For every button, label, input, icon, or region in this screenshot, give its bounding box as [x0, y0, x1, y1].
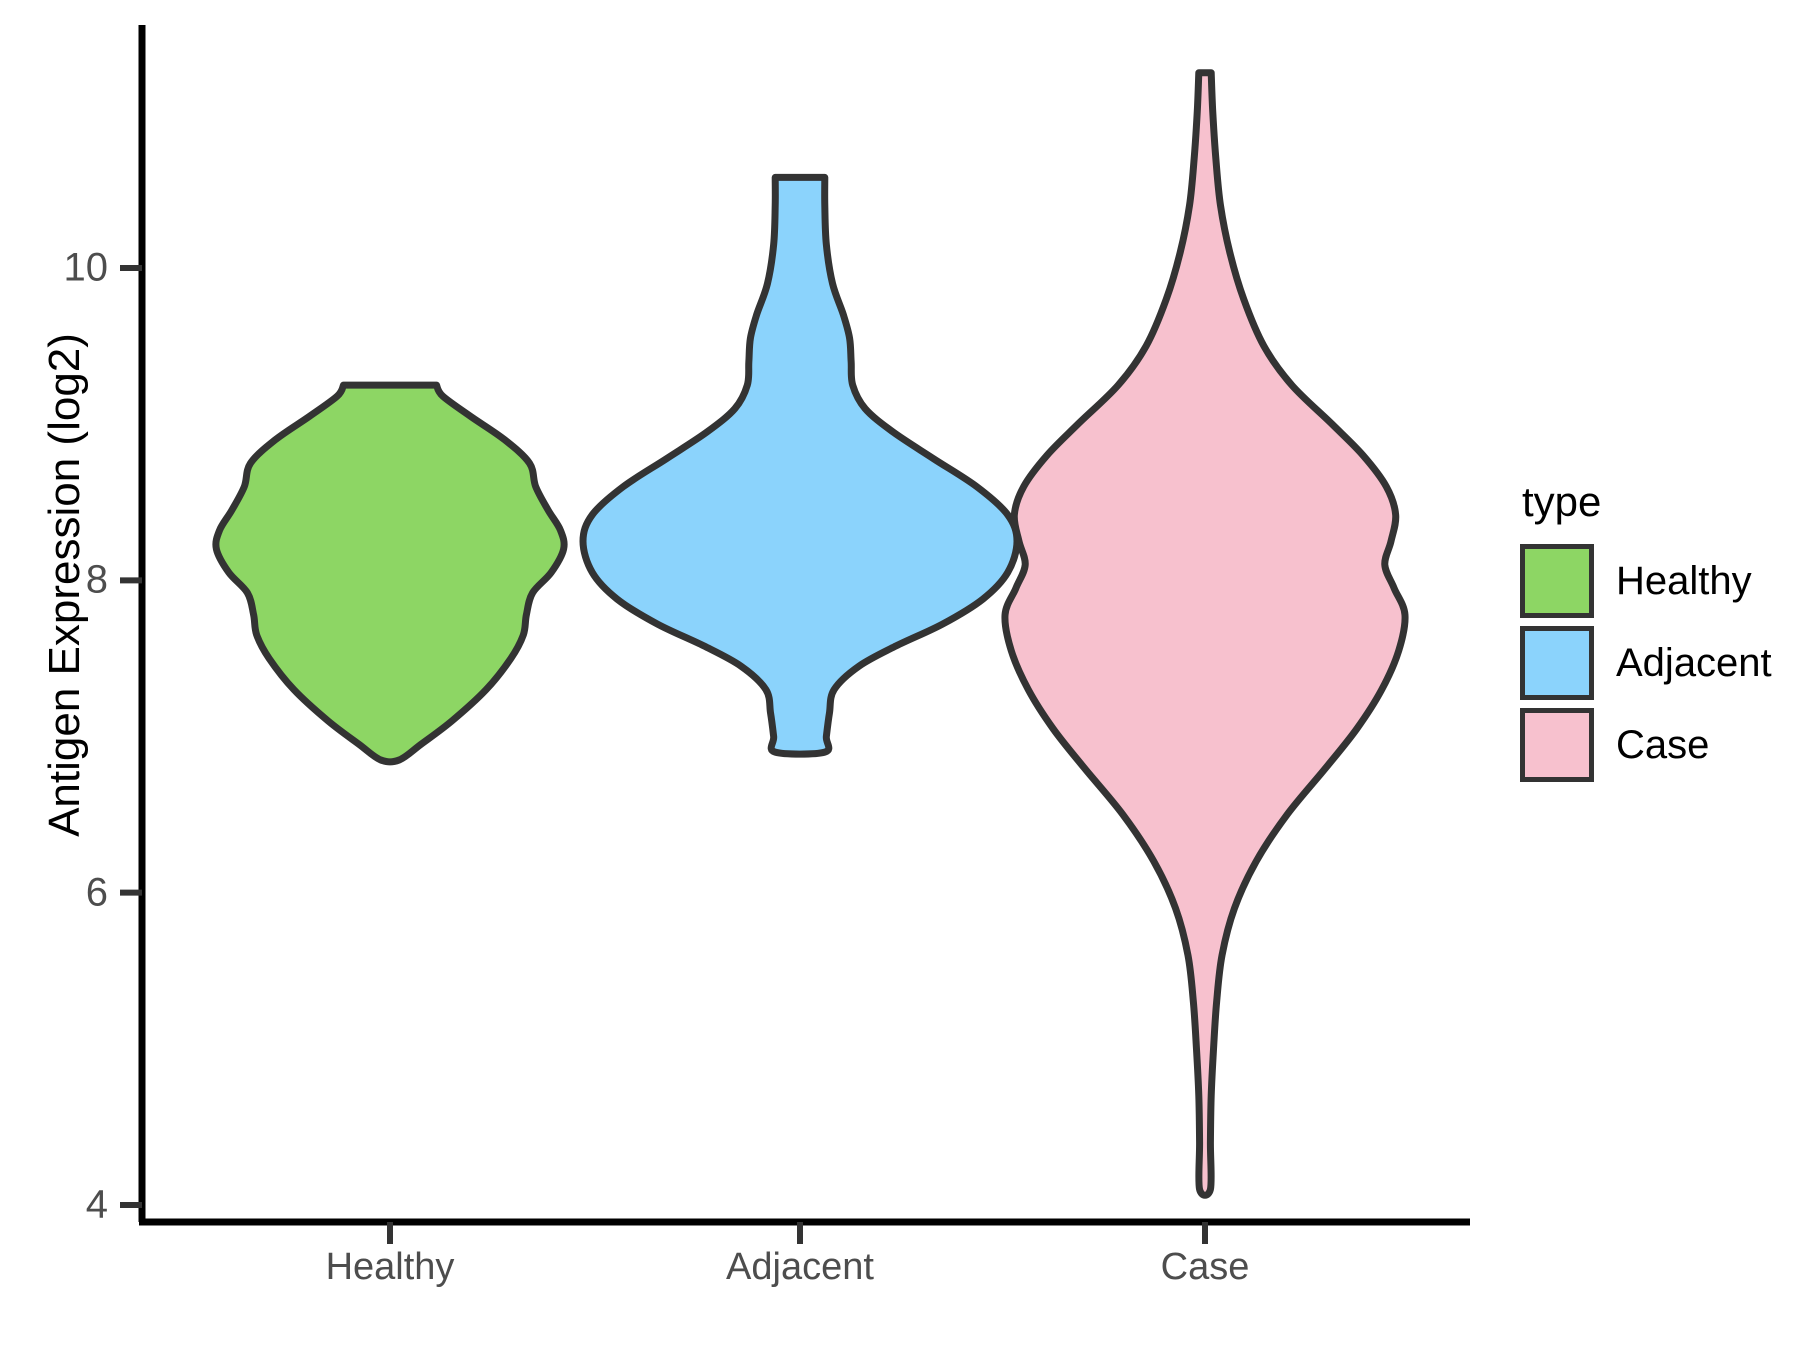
violin-shapes-group — [216, 73, 1405, 1195]
violin-case — [1005, 73, 1405, 1195]
legend-swatch-icon — [1520, 544, 1594, 618]
violin-adjacent — [583, 177, 1017, 754]
legend-item-label: Healthy — [1616, 559, 1752, 604]
violin-plot-figure: Antigen Expression (log2) 10864 HealthyA… — [0, 0, 1800, 1350]
violin-healthy — [216, 385, 564, 762]
legend-item-case[interactable]: Case — [1520, 704, 1772, 786]
x-tick-label-adjacent: Adjacent — [726, 1246, 874, 1289]
legend-item-healthy[interactable]: Healthy — [1520, 540, 1772, 622]
y-tick-label: 8 — [0, 558, 108, 603]
legend-item-label: Adjacent — [1616, 641, 1772, 686]
x-tick-label-case: Case — [1161, 1246, 1250, 1289]
x-tick-label-healthy: Healthy — [326, 1246, 455, 1289]
legend-swatch-icon — [1520, 626, 1594, 700]
legend-item-label: Case — [1616, 723, 1709, 768]
y-tick-label: 6 — [0, 870, 108, 915]
legend-items: HealthyAdjacentCase — [1520, 540, 1772, 786]
y-tick-label: 10 — [0, 246, 108, 291]
legend-swatch-icon — [1520, 708, 1594, 782]
legend: type HealthyAdjacentCase — [1520, 478, 1772, 786]
legend-item-adjacent[interactable]: Adjacent — [1520, 622, 1772, 704]
y-tick-label: 4 — [0, 1183, 108, 1228]
legend-title: type — [1522, 478, 1772, 526]
